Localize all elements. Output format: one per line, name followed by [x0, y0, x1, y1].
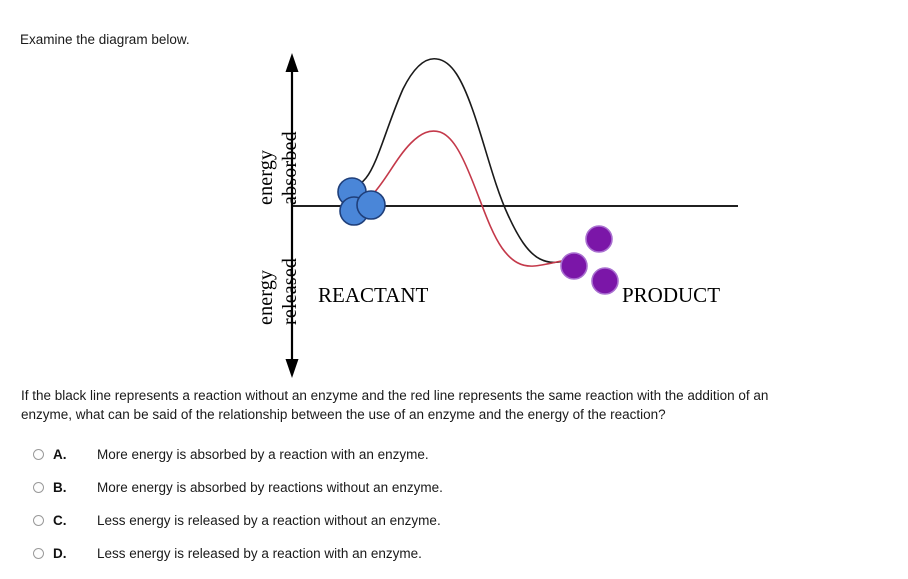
answer-option-c[interactable]: C. Less energy is released by a reaction… — [33, 504, 893, 537]
reactant-molecule-cluster — [338, 178, 385, 225]
answer-option-a-text: More energy is absorbed by a reaction wi… — [97, 447, 429, 462]
answer-option-a-letter: A. — [53, 447, 97, 462]
question-stem: If the black line represents a reaction … — [21, 386, 908, 424]
vertical-axis-arrow-down-icon — [286, 359, 299, 378]
answer-option-c-text: Less energy is released by a reaction wi… — [97, 513, 441, 528]
axis-label-energy-absorbed-line2: absorbed — [279, 131, 302, 205]
curve-without-enzyme — [349, 59, 572, 263]
question-stem-line-1: If the black line represents a reaction … — [21, 386, 908, 405]
radio-button-d-icon[interactable] — [33, 548, 44, 559]
answer-option-b-text: More energy is absorbed by reactions wit… — [97, 480, 443, 495]
radio-button-b-icon[interactable] — [33, 482, 44, 493]
radio-button-a-icon[interactable] — [33, 449, 44, 460]
axis-label-energy-absorbed-line1: energy — [255, 150, 278, 205]
answer-option-d-text: Less energy is released by a reaction wi… — [97, 546, 422, 561]
reactant-label: REACTANT — [318, 283, 428, 308]
vertical-axis-arrow-up-icon — [286, 53, 299, 72]
radio-button-c-icon[interactable] — [33, 515, 44, 526]
answer-option-c-letter: C. — [53, 513, 97, 528]
product-molecule-circle — [561, 253, 587, 279]
product-molecule-circle — [586, 226, 612, 252]
axis-label-energy-released-line2: released — [279, 258, 302, 325]
reactant-molecule-circle — [357, 191, 385, 219]
question-stem-line-2: enzyme, what can be said of the relation… — [21, 405, 908, 424]
product-molecule-circle — [592, 268, 618, 294]
vertical-axis — [286, 53, 299, 378]
product-label: PRODUCT — [622, 283, 720, 308]
product-molecule-cluster — [561, 226, 618, 294]
axis-label-energy-released-line1: energy — [255, 270, 278, 325]
energy-diagram-svg — [0, 45, 908, 380]
answer-option-a[interactable]: A. More energy is absorbed by a reaction… — [33, 438, 893, 471]
answer-option-b-letter: B. — [53, 480, 97, 495]
answer-option-b[interactable]: B. More energy is absorbed by reactions … — [33, 471, 893, 504]
answer-option-d[interactable]: D. Less energy is released by a reaction… — [33, 537, 893, 570]
energy-diagram: energy absorbed energy released REACTANT… — [0, 45, 908, 380]
answer-options-list: A. More energy is absorbed by a reaction… — [33, 438, 893, 570]
answer-option-d-letter: D. — [53, 546, 97, 561]
